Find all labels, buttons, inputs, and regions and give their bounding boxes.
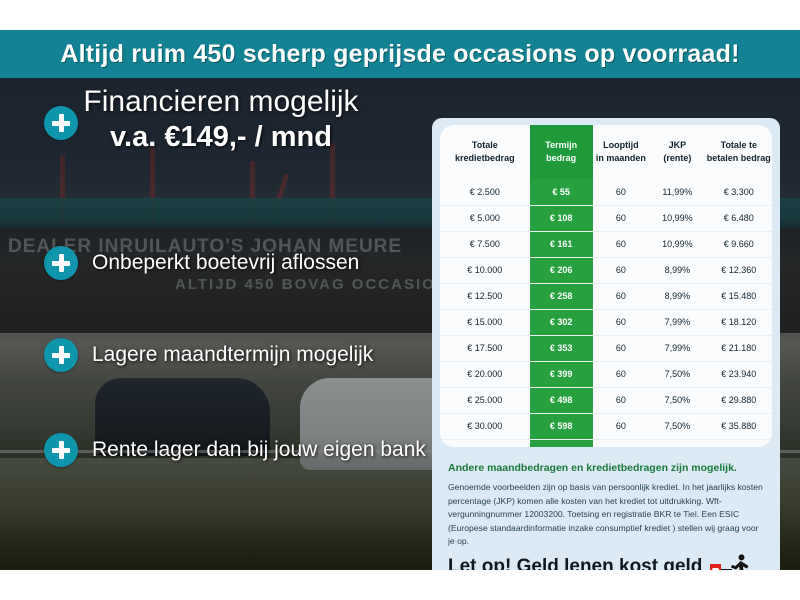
- plus-icon: [44, 433, 78, 467]
- financing-note: Andere maandbedragen en kredietbedragen …: [448, 462, 766, 549]
- table-cell-r8-c3: 7,50%: [649, 387, 705, 413]
- table-cell-r4-c0: € 12.500: [440, 283, 530, 309]
- benefit-item-2: Rente lager dan bij jouw eigen bank: [44, 433, 426, 467]
- col-header-4: Totale tebetalen bedrag: [706, 125, 772, 179]
- table-cell-r1-c2: 60: [593, 205, 649, 231]
- table-cell-r8-c1: € 498: [530, 387, 593, 413]
- plus-icon: [44, 338, 78, 372]
- table-cell-r6-c0: € 17.500: [440, 335, 530, 361]
- col-header-3: JKP(rente): [649, 125, 705, 179]
- plus-icon: [44, 246, 78, 280]
- table-cell-r3-c2: 60: [593, 257, 649, 283]
- table-cell-r2-c4: € 9.660: [706, 231, 772, 257]
- table-cell-r4-c2: 60: [593, 283, 649, 309]
- table-cell-r1-c3: 10,99%: [649, 205, 705, 231]
- benefit-item-1: Lagere maandtermijn mogelijk: [44, 338, 373, 372]
- note-heading: Andere maandbedragen en kredietbedragen …: [448, 462, 766, 474]
- table-row: € 30.000€ 598607,50%€ 35.880: [440, 413, 772, 439]
- table-cell-r9-c1: € 598: [530, 413, 593, 439]
- col-header-0: Totalekredietbedrag: [440, 125, 530, 179]
- afm-running-man-icon: [710, 554, 750, 570]
- plus-icon: [44, 106, 78, 140]
- table-cell-r7-c0: € 20.000: [440, 361, 530, 387]
- table-cell-r4-c1: € 258: [530, 283, 593, 309]
- table-cell-r3-c1: € 206: [530, 257, 593, 283]
- table-cell-r2-c1: € 161: [530, 231, 593, 257]
- table-cell-r7-c3: 7,50%: [649, 361, 705, 387]
- benefit-label-2: Rente lager dan bij jouw eigen bank: [92, 438, 426, 462]
- table-cell-r1-c1: € 108: [530, 205, 593, 231]
- table-cell-r10-c0: € 50.000: [440, 439, 530, 447]
- table-cell-r10-c2: 60: [593, 439, 649, 447]
- table-row: € 5.000€ 1086010,99%€ 6.480: [440, 205, 772, 231]
- benefit-item-0: Onbeperkt boetevrij aflossen: [44, 246, 359, 280]
- table-cell-r1-c4: € 6.480: [706, 205, 772, 231]
- table-cell-r3-c3: 8,99%: [649, 257, 705, 283]
- table-cell-r0-c2: 60: [593, 179, 649, 205]
- table-cell-r0-c3: 11,99%: [649, 179, 705, 205]
- table-row: € 15.000€ 302607,99%€ 18.120: [440, 309, 772, 335]
- table-header-row: Totalekredietbedrag Termijnbedrag Loopti…: [440, 125, 772, 179]
- headline-text: Altijd ruim 450 scherp geprijsde occasio…: [60, 40, 739, 69]
- table-cell-r0-c4: € 3.300: [706, 179, 772, 205]
- credit-warning: Let op! Geld lenen kost geld: [448, 554, 768, 570]
- table-cell-r3-c4: € 12.360: [706, 257, 772, 283]
- table-row: € 10.000€ 206608,99%€ 12.360: [440, 257, 772, 283]
- table-cell-r2-c3: 10,99%: [649, 231, 705, 257]
- banner-photo-area: Altijd ruim 450 scherp geprijsde occasio…: [0, 30, 800, 570]
- table-cell-r1-c0: € 5.000: [440, 205, 530, 231]
- table-row: € 2.500€ 556011,99%€ 3.300: [440, 179, 772, 205]
- table-row: € 17.500€ 353607,99%€ 21.180: [440, 335, 772, 361]
- table-cell-r3-c0: € 10.000: [440, 257, 530, 283]
- table-cell-r8-c0: € 25.000: [440, 387, 530, 413]
- benefit-label-1: Lagere maandtermijn mogelijk: [92, 343, 373, 367]
- benefits-list: Financieren mogelijk v.a. €149,- / mnd O…: [0, 78, 430, 570]
- table-cell-r10-c3: 7,50%: [649, 439, 705, 447]
- table-cell-r5-c4: € 18.120: [706, 309, 772, 335]
- note-body: Genoemde voorbeelden zijn op basis van p…: [448, 481, 766, 549]
- table-cell-r9-c4: € 35.880: [706, 413, 772, 439]
- financing-table-wrapper: Totalekredietbedrag Termijnbedrag Loopti…: [440, 125, 772, 447]
- table-cell-r7-c1: € 399: [530, 361, 593, 387]
- table-cell-r6-c3: 7,99%: [649, 335, 705, 361]
- table-cell-r2-c0: € 7.500: [440, 231, 530, 257]
- table-cell-r6-c2: 60: [593, 335, 649, 361]
- table-cell-r4-c4: € 15.480: [706, 283, 772, 309]
- table-body: € 2.500€ 556011,99%€ 3.300€ 5.000€ 10860…: [440, 179, 772, 447]
- table-cell-r5-c3: 7,99%: [649, 309, 705, 335]
- table-cell-r10-c1: € 996: [530, 439, 593, 447]
- table-cell-r5-c2: 60: [593, 309, 649, 335]
- benefit-item-financing: [44, 106, 78, 140]
- table-cell-r7-c4: € 23.940: [706, 361, 772, 387]
- col-header-2: Looptijdin maanden: [593, 125, 649, 179]
- table-cell-r2-c2: 60: [593, 231, 649, 257]
- table-cell-r0-c0: € 2.500: [440, 179, 530, 205]
- table-cell-r7-c2: 60: [593, 361, 649, 387]
- table-row: € 20.000€ 399607,50%€ 23.940: [440, 361, 772, 387]
- table-row: € 7.500€ 1616010,99%€ 9.660: [440, 231, 772, 257]
- headline-bar: Altijd ruim 450 scherp geprijsde occasio…: [0, 30, 800, 78]
- table-cell-r5-c1: € 302: [530, 309, 593, 335]
- table-cell-r0-c1: € 55: [530, 179, 593, 205]
- table-cell-r9-c0: € 30.000: [440, 413, 530, 439]
- table-cell-r8-c2: 60: [593, 387, 649, 413]
- financing-table: Totalekredietbedrag Termijnbedrag Loopti…: [440, 125, 772, 447]
- table-cell-r10-c4: € 59.760: [706, 439, 772, 447]
- table-cell-r6-c1: € 353: [530, 335, 593, 361]
- table-row: € 25.000€ 498607,50%€ 29.880: [440, 387, 772, 413]
- table-row: € 50.000€ 996607,50%€ 59.760: [440, 439, 772, 447]
- table-head: Totalekredietbedrag Termijnbedrag Loopti…: [440, 125, 772, 179]
- financing-table-card: Totalekredietbedrag Termijnbedrag Loopti…: [432, 118, 780, 570]
- credit-warning-text: Let op! Geld lenen kost geld: [448, 556, 702, 570]
- benefit-label-0: Onbeperkt boetevrij aflossen: [92, 251, 359, 275]
- advertisement-banner: Altijd ruim 450 scherp geprijsde occasio…: [0, 0, 800, 600]
- table-row: € 12.500€ 258608,99%€ 15.480: [440, 283, 772, 309]
- table-cell-r8-c4: € 29.880: [706, 387, 772, 413]
- col-header-1: Termijnbedrag: [530, 125, 593, 179]
- table-cell-r6-c4: € 21.180: [706, 335, 772, 361]
- table-cell-r5-c0: € 15.000: [440, 309, 530, 335]
- table-cell-r9-c3: 7,50%: [649, 413, 705, 439]
- table-cell-r4-c3: 8,99%: [649, 283, 705, 309]
- table-cell-r9-c2: 60: [593, 413, 649, 439]
